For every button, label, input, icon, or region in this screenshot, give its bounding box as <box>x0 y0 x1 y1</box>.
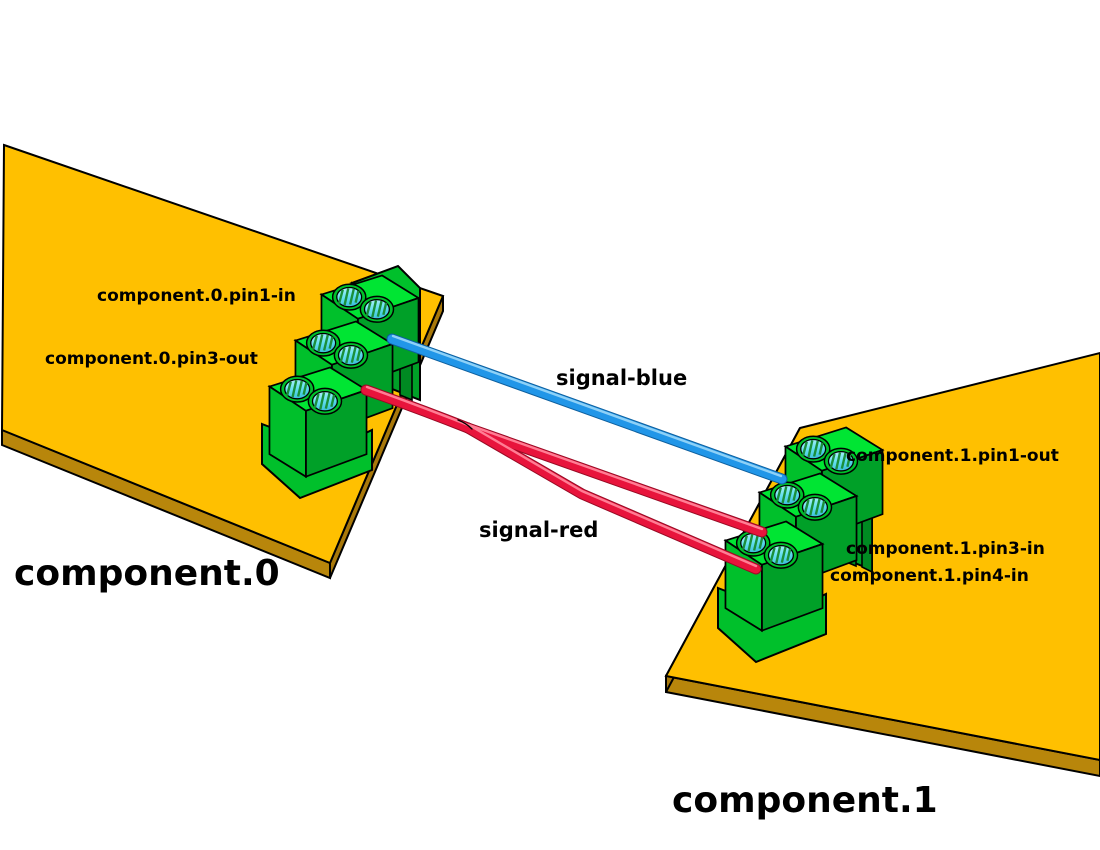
board-label-component-1: component.1 <box>672 780 938 821</box>
connector-1-block-3[interactable] <box>725 521 822 630</box>
pin-label-component-0-pin3-out: component.0.pin3-out <box>45 349 258 369</box>
pin-label-component-0-pin1-in: component.0.pin1-in <box>97 286 296 306</box>
signal-label-blue: signal-blue <box>556 366 687 390</box>
signal-red-branch-a-body <box>468 428 762 532</box>
diagram-canvas: component.0.pin1-in component.0.pin3-out… <box>0 0 1100 850</box>
pin-label-component-1-pin4-in: component.1.pin4-in <box>830 566 1029 586</box>
connection-diagram: component.0.pin1-in component.0.pin3-out… <box>0 0 1100 850</box>
board-label-component-0: component.0 <box>14 553 280 594</box>
signal-label-red: signal-red <box>479 518 598 542</box>
pin-label-component-1-pin3-in: component.1.pin3-in <box>846 539 1045 559</box>
signal-blue-highlight <box>393 336 781 476</box>
signal-blue-body <box>392 339 782 479</box>
pin-label-component-1-pin1-out: component.1.pin1-out <box>846 446 1059 466</box>
connector-0-block-3[interactable] <box>269 367 366 476</box>
wire-signal-blue[interactable] <box>392 336 782 479</box>
